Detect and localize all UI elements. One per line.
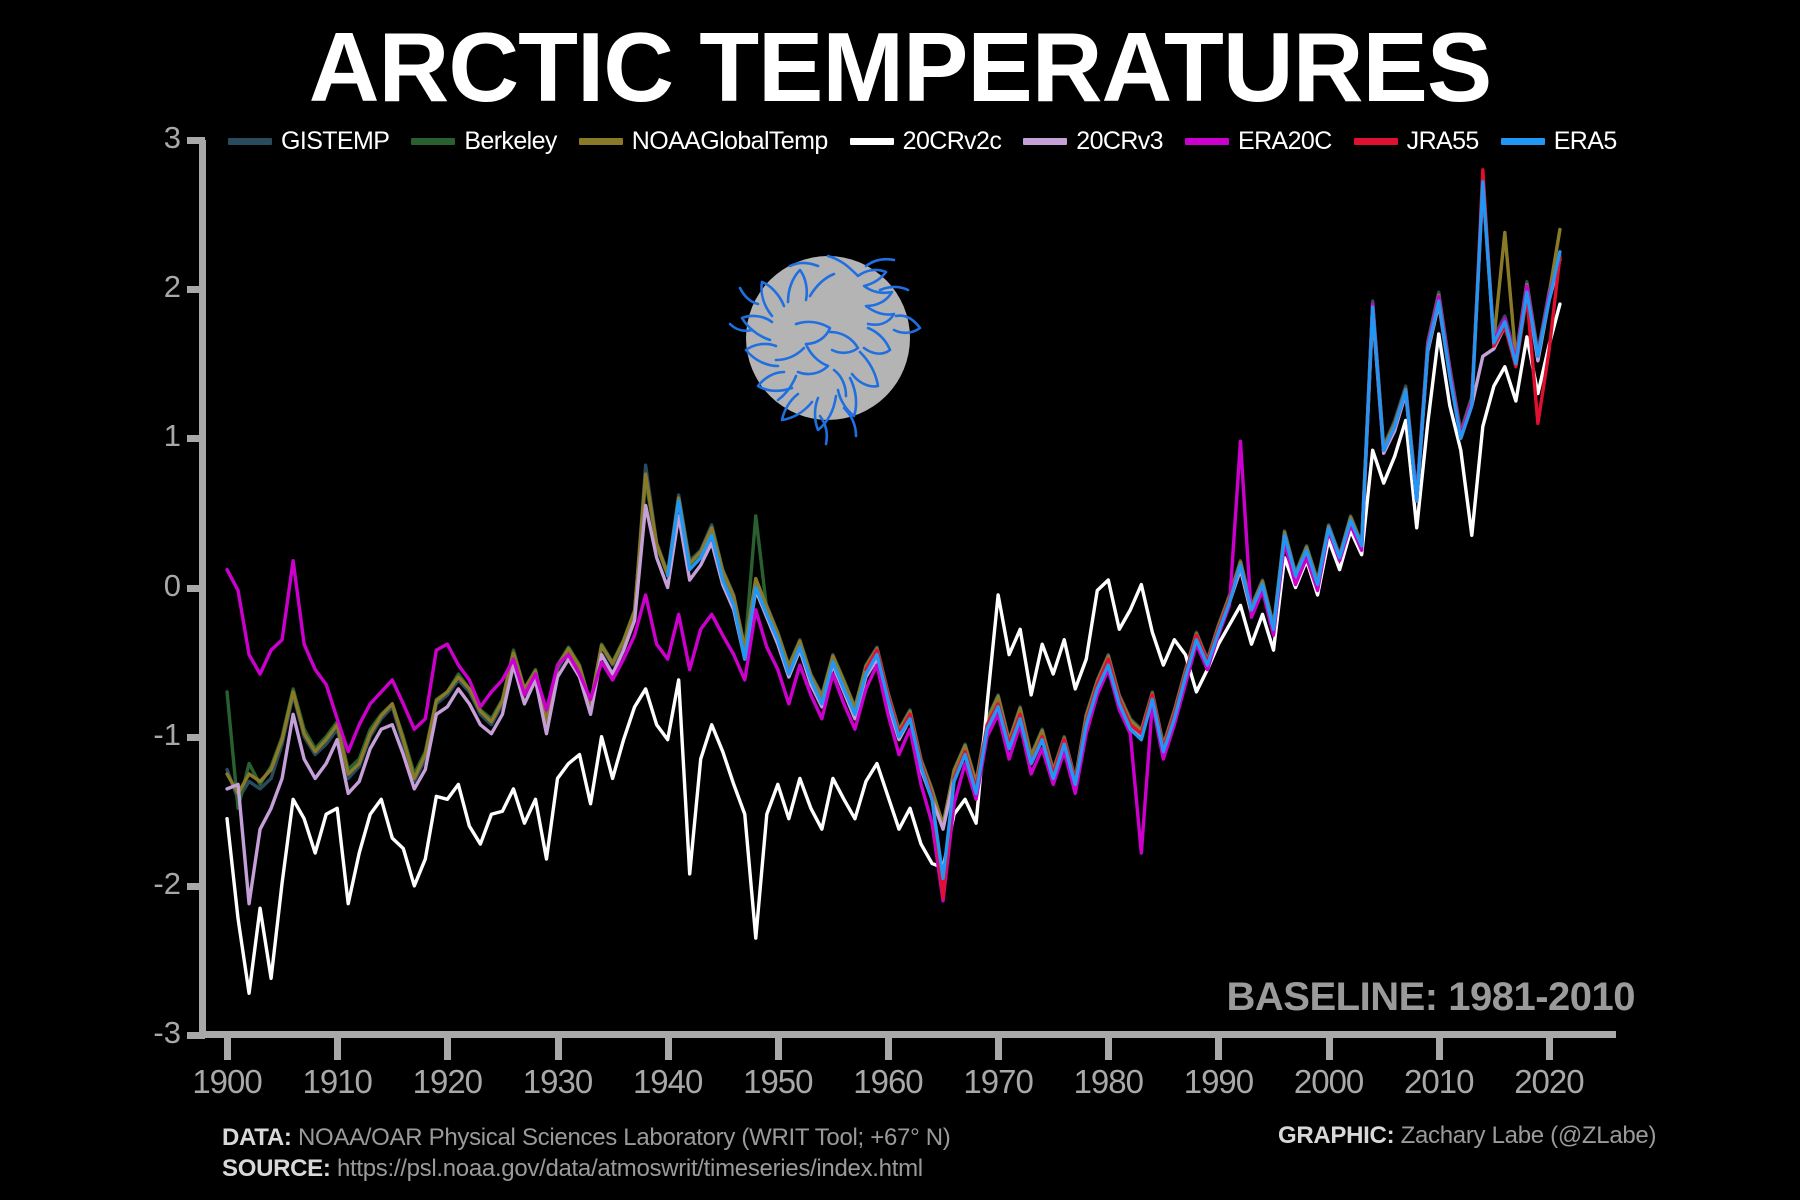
y-tick-mark [187, 734, 205, 741]
chart-canvas: ARCTIC TEMPERATURES GISTEMPBerkeleyNOAAG… [0, 0, 1800, 1200]
x-tick-mark [1546, 1038, 1553, 1060]
y-tick-mark [187, 435, 205, 442]
data-label: DATA: [222, 1124, 292, 1151]
footer-data-source: DATA: NOAA/OAR Physical Sciences Laborat… [222, 1122, 950, 1184]
graphic-value: Zachary Labe (@ZLabe) [1394, 1122, 1656, 1149]
y-tick-mark [187, 137, 205, 144]
x-tick-mark [444, 1038, 451, 1060]
source-label: SOURCE: [222, 1155, 331, 1182]
source-value: https://psl.noaa.gov/data/atmoswrit/time… [331, 1155, 923, 1182]
x-tick-mark [995, 1038, 1002, 1060]
graphic-label: GRAPHIC: [1278, 1122, 1394, 1149]
x-tick-mark [1436, 1038, 1443, 1060]
data-value: NOAA/OAR Physical Sciences Laboratory (W… [292, 1124, 951, 1151]
y-tick-mark [187, 883, 205, 890]
y-tick-label: -3 [121, 1015, 181, 1051]
y-tick-mark [187, 585, 205, 592]
x-tick-mark [555, 1038, 562, 1060]
footer-graphic-credit: GRAPHIC: Zachary Labe (@ZLabe) [1278, 1122, 1656, 1150]
baseline-annotation: BASELINE: 1981-2010 [1227, 975, 1635, 1020]
x-tick-mark [1105, 1038, 1112, 1060]
y-tick-label: 1 [121, 418, 181, 454]
y-tick-label: 2 [121, 269, 181, 305]
x-tick-mark [1215, 1038, 1222, 1060]
series-line-jra55 [866, 170, 1560, 898]
page-title: ARCTIC TEMPERATURES [0, 18, 1800, 116]
x-tick-mark [1326, 1038, 1333, 1060]
x-tick-mark [224, 1038, 231, 1060]
x-tick-label: 2020 [1479, 1063, 1619, 1101]
y-tick-label: -1 [121, 717, 181, 753]
y-tick-label: 0 [121, 568, 181, 604]
y-tick-mark [187, 1032, 205, 1039]
x-tick-mark [665, 1038, 672, 1060]
y-tick-label: 3 [121, 120, 181, 156]
y-tick-label: -2 [121, 866, 181, 902]
y-tick-mark [187, 286, 205, 293]
x-tick-mark [885, 1038, 892, 1060]
x-tick-mark [775, 1038, 782, 1060]
arctic-globe-inset [700, 220, 950, 470]
globe-disc [746, 256, 910, 420]
x-tick-mark [334, 1038, 341, 1060]
